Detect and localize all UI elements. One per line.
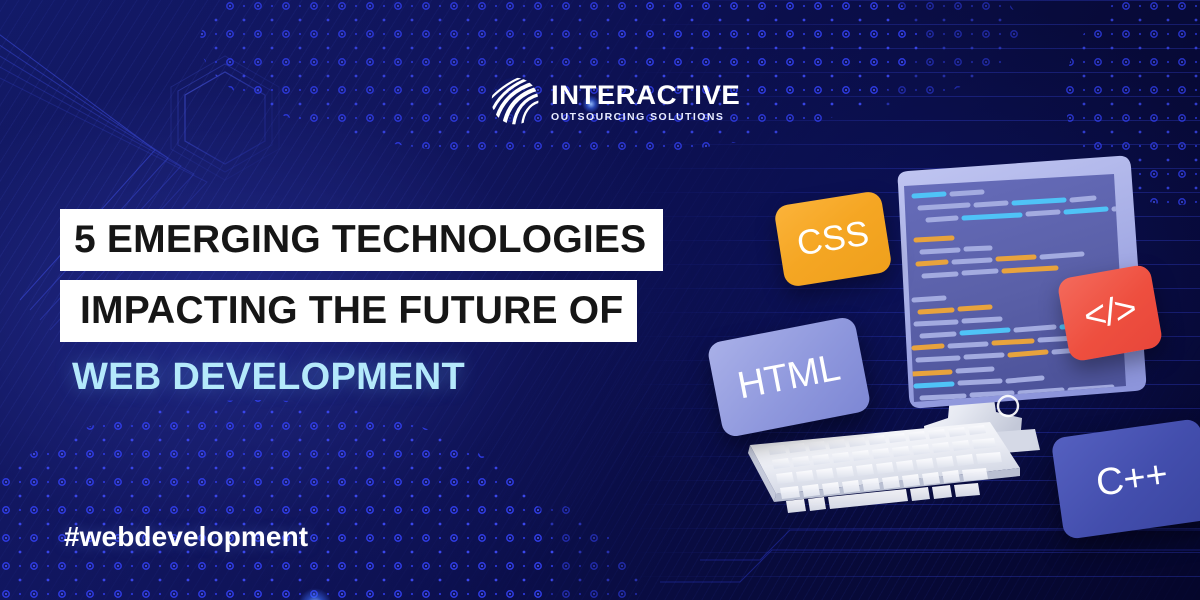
glow-accent-dot-bottom (298, 588, 332, 600)
promo-banner: INTERACTIVE OUTSOURCING SOLUTIONS 5 EMER… (0, 0, 1200, 600)
headline-line-3: WEB DEVELOPMENT (72, 358, 1200, 396)
css-badge: CSS (773, 190, 892, 288)
headline-block: 5 EMERGING TECHNOLOGIES IMPACTING THE FU… (60, 209, 1200, 396)
brand-tagline: OUTSOURCING SOLUTIONS (551, 112, 737, 123)
code-tag-badge: </> (1056, 263, 1163, 362)
html-badge-label: HTML (734, 346, 844, 408)
globe-sphere-icon (488, 74, 542, 128)
cpp-badge-label: C++ (1093, 453, 1170, 506)
css-badge-label: CSS (794, 214, 871, 265)
keyboard (748, 422, 1020, 513)
code-tag-icon: </> (1081, 287, 1140, 338)
cpp-badge: C++ (1051, 418, 1200, 540)
headline-line-1: 5 EMERGING TECHNOLOGIES (60, 209, 663, 271)
brand-wordmark: INTERACTIVE OUTSOURCING SOLUTIONS (551, 80, 737, 123)
brand-logo[interactable]: INTERACTIVE OUTSOURCING SOLUTIONS (488, 74, 737, 128)
headline-line-2: IMPACTING THE FUTURE OF (60, 280, 637, 342)
brand-name: INTERACTIVE (551, 82, 740, 109)
hexagon-outline-decor (171, 56, 279, 180)
hashtag-label: #webdevelopment (64, 521, 308, 553)
